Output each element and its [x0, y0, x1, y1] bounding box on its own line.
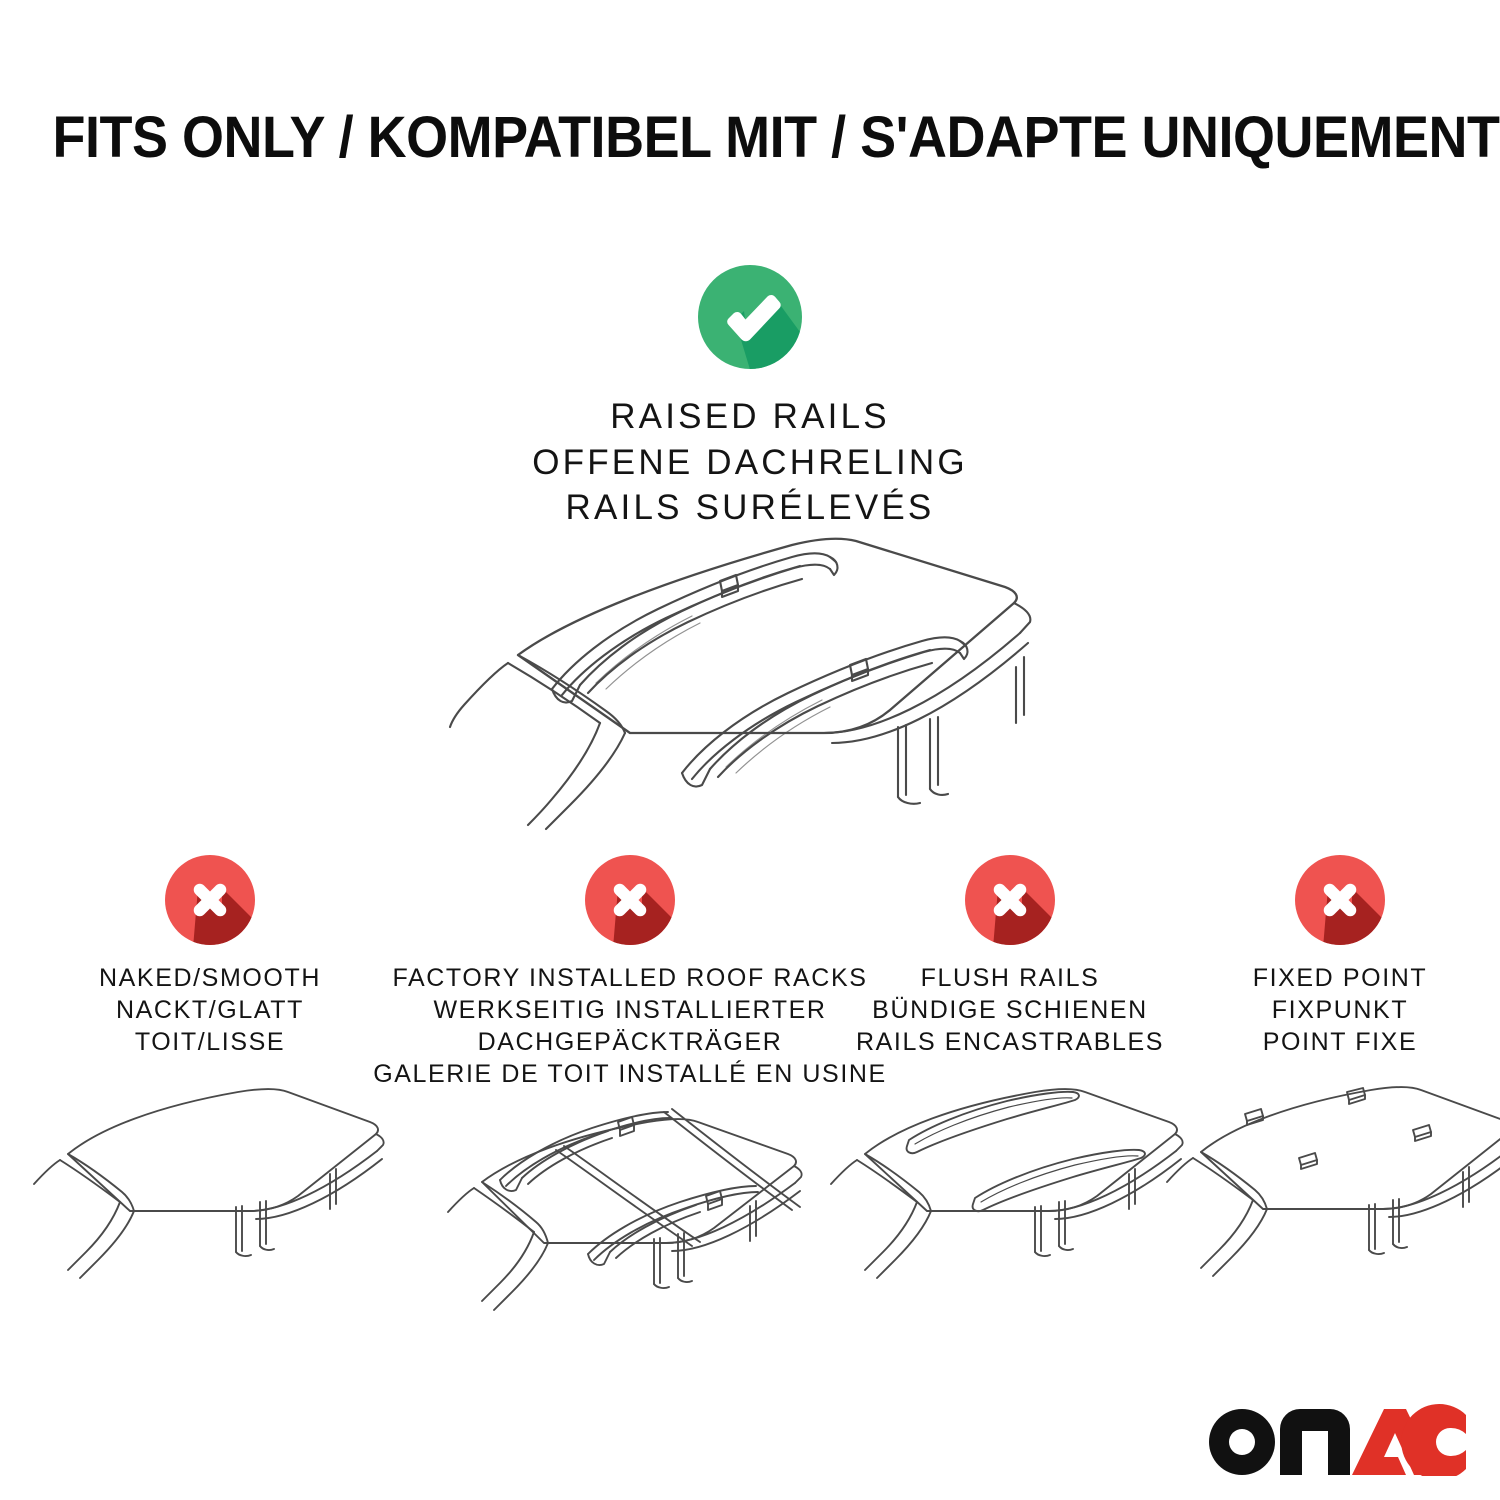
incompatible-label-de: NACKT/GLATT	[99, 994, 321, 1026]
incompatible-label-en: NAKED/SMOOTH	[99, 962, 321, 994]
incompatible-label-de-1: WERKSEITIG INSTALLIERTER	[373, 994, 887, 1026]
cross-circle-icon	[582, 852, 678, 948]
cross-circle-icon	[162, 852, 258, 948]
incompatible-label-fr: RAILS ENCASTRABLES	[856, 1026, 1164, 1058]
incompatible-label-de: FIXPUNKT	[1253, 994, 1428, 1026]
incompatible-label-en: FIXED POINT	[1253, 962, 1428, 994]
incompatible-label-en: FACTORY INSTALLED ROOF RACKS	[373, 962, 887, 994]
incompatible-labels-factory-roof-racks: FACTORY INSTALLED ROOF RACKS WERKSEITIG …	[373, 962, 887, 1090]
car-roof-flush-rails-illustration	[825, 1074, 1195, 1289]
logo-letter-c	[1401, 1404, 1466, 1476]
car-roof-with-raised-rails-illustration	[420, 505, 1100, 835]
cross-circle-icon	[1292, 852, 1388, 948]
incompatible-labels-naked-smooth: NAKED/SMOOTH NACKT/GLATT TOIT/LISSE	[99, 962, 321, 1058]
logo-letter-o	[1209, 1409, 1275, 1475]
incompatible-item-fixed-point: FIXED POINT FIXPUNKT POINT FIXE	[1180, 852, 1500, 1289]
incompatible-item-naked-smooth: NAKED/SMOOTH NACKT/GLATT TOIT/LISSE	[0, 852, 420, 1289]
cross-circle-icon	[962, 852, 1058, 948]
incompatible-label-de-2: DACHGEPÄCKTRÄGER	[373, 1026, 887, 1058]
incompatible-label-fr: POINT FIXE	[1253, 1026, 1428, 1058]
incompatible-labels-flush-rails: FLUSH RAILS BÜNDIGE SCHIENEN RAILS ENCAS…	[856, 962, 1164, 1058]
incompatible-label-de: BÜNDIGE SCHIENEN	[856, 994, 1164, 1026]
car-roof-fixed-point-illustration	[1165, 1074, 1500, 1289]
check-circle-icon	[695, 262, 805, 372]
incompatible-label-fr: GALERIE DE TOIT INSTALLÉ EN USINE	[373, 1058, 887, 1090]
compatible-section: RAISED RAILS OFFENE DACHRELING RAILS SUR…	[0, 262, 1500, 531]
incompatible-label-fr: TOIT/LISSE	[99, 1026, 321, 1058]
compatible-label-de: OFFENE DACHRELING	[0, 440, 1500, 486]
omac-logo	[1206, 1402, 1466, 1476]
compatible-label-en: RAISED RAILS	[0, 394, 1500, 440]
incompatible-section: NAKED/SMOOTH NACKT/GLATT TOIT/LISSE	[0, 852, 1500, 1321]
car-roof-naked-smooth-illustration	[30, 1074, 390, 1289]
incompatible-item-flush-rails: FLUSH RAILS BÜNDIGE SCHIENEN RAILS ENCAS…	[840, 852, 1180, 1289]
car-roof-factory-installed-roof-racks-illustration	[440, 1106, 820, 1321]
incompatible-item-factory-roof-racks: FACTORY INSTALLED ROOF RACKS WERKSEITIG …	[420, 852, 840, 1321]
logo-letter-m	[1280, 1409, 1350, 1475]
incompatible-label-en: FLUSH RAILS	[856, 962, 1164, 994]
page-title: FITS ONLY / KOMPATIBEL MIT / S'ADAPTE UN…	[53, 104, 1448, 171]
incompatible-labels-fixed-point: FIXED POINT FIXPUNKT POINT FIXE	[1253, 962, 1428, 1058]
